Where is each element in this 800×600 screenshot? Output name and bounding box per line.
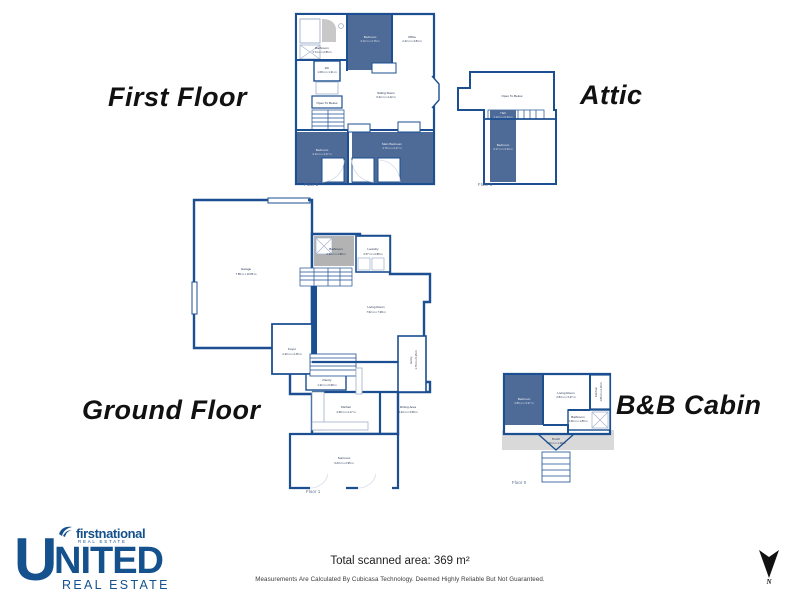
section-title-bb-cabin: B&B Cabin bbox=[616, 390, 762, 421]
room-label: Bedroom bbox=[497, 143, 510, 147]
room-label: Kitchen bbox=[341, 405, 352, 409]
logo-letter-u: U bbox=[14, 530, 57, 590]
room-label: Open To Below bbox=[317, 101, 339, 105]
room-label: Living Room bbox=[367, 305, 385, 309]
room-label: Bedroom bbox=[518, 397, 531, 401]
room-dim: 4.79 m x 3.47 m bbox=[382, 146, 402, 150]
room-dim: 2.90 m x 1.98 m bbox=[326, 252, 346, 256]
floor-tag-bb-cabin: Floor 0 bbox=[512, 480, 526, 485]
room-dim: 2.22 m x 3.84 m bbox=[402, 39, 422, 43]
floor-tag-ground-floor: Floor 1 bbox=[306, 489, 320, 494]
compass-north-indicator: N bbox=[752, 544, 786, 592]
room-label: Open To Below bbox=[502, 94, 524, 98]
room-label: Sunroom bbox=[338, 456, 351, 460]
room-label: Foyer bbox=[288, 347, 296, 351]
room-dim: 3.13 m x 3.47 m bbox=[312, 152, 332, 156]
logo-partner-subtitle: REAL ESTATE bbox=[78, 539, 127, 544]
room-label: Hall bbox=[500, 111, 506, 115]
room-label: Dining Area bbox=[400, 405, 416, 409]
room-label: Wc bbox=[325, 66, 330, 70]
room-label: Office bbox=[408, 35, 416, 39]
floorplan-page: First Floor Attic Ground Floor B&B Cabin bbox=[0, 0, 800, 600]
room-label: Bathroom bbox=[315, 46, 329, 50]
room-label: Main Bedroom bbox=[382, 142, 403, 146]
room-label: Garage bbox=[241, 267, 252, 271]
logo-tagline: REAL ESTATE bbox=[62, 578, 170, 592]
room-label: Bathroom bbox=[571, 415, 585, 419]
compass-label: N bbox=[752, 578, 786, 586]
logo-wordmark: NITED bbox=[54, 542, 163, 580]
room-dim: 7.62 m x 7.38 m bbox=[366, 310, 386, 314]
room-label: Bedroom bbox=[364, 35, 377, 39]
room-dim: 1.32 m x 0.98 m bbox=[317, 383, 337, 387]
floor-tag-attic: Floor 3 bbox=[478, 182, 492, 187]
room-dim: 6.03 m x 2.95 m bbox=[334, 461, 354, 465]
room-dim: 7.20 m x 1.38 m bbox=[546, 441, 566, 445]
room-dim: 1.39 m x 1.89 m bbox=[568, 419, 588, 423]
section-title-attic: Attic bbox=[580, 80, 643, 111]
room-dim: 3.10 m x 3.78 m bbox=[360, 39, 380, 43]
room-label: Living Room bbox=[557, 391, 575, 395]
room-dim: 3.74 m x 2.86 m bbox=[312, 50, 332, 54]
room-label: Kitchen bbox=[594, 387, 598, 398]
room-label: Entry bbox=[409, 356, 413, 364]
room-dim: 7.85 m x 10.86 m bbox=[236, 272, 258, 276]
section-title-first-floor: First Floor bbox=[108, 82, 247, 113]
room-dim: 1.08 m x 1.31 m bbox=[317, 70, 337, 74]
plan-ground-floor: Garage 7.85 m x 10.86 m Bathroom 2.90 m … bbox=[180, 196, 440, 496]
room-label: Pantry bbox=[323, 378, 332, 382]
plan-bb-cabin: Bedroom 2.89 m x 3.37 m Living Room 2.84… bbox=[498, 368, 622, 486]
floor-tag-first-floor: Floor 2 bbox=[304, 182, 318, 187]
firstnational-swoosh-icon bbox=[58, 525, 73, 538]
plan-first-floor: Bathroom 3.74 m x 2.86 m Bedroom 3.10 m … bbox=[286, 6, 446, 194]
room-label: Bedroom bbox=[316, 148, 329, 152]
room-dim: 1.13 m x 0.43 m bbox=[493, 115, 513, 119]
plan-attic: Open To Below Hall 1.13 m x 0.43 m Bedro… bbox=[456, 66, 568, 194]
room-label: Sitting Room bbox=[377, 91, 395, 95]
room-dim: 6.32 m x 4.42 m bbox=[376, 95, 396, 99]
room-dim: 1.75 m x 5.16 m bbox=[414, 350, 418, 370]
room-dim: 2.84 m x 3.37 m bbox=[556, 395, 576, 399]
room-dim: 3.17 m x 3.43 m bbox=[493, 147, 513, 151]
room-dim: 2.20 m x 4.45 m bbox=[282, 352, 302, 356]
brand-logo: U NITED firstnational REAL ESTATE REAL E… bbox=[14, 524, 204, 590]
north-arrow-icon bbox=[752, 544, 786, 580]
room-label: Porch bbox=[552, 437, 560, 441]
room-dim: 1.65 m x 3.16 m bbox=[599, 382, 603, 402]
room-dim: 2.57 m x 2.88 m bbox=[363, 252, 383, 256]
room-dim: 3.43 m x 3.58 m bbox=[398, 410, 418, 414]
room-dim: 2.89 m x 3.37 m bbox=[514, 401, 534, 405]
room-dim: 4.38 m x 4.17 m bbox=[336, 410, 356, 414]
room-label: Bathroom bbox=[329, 247, 343, 251]
room-label: Laundry bbox=[367, 247, 379, 251]
